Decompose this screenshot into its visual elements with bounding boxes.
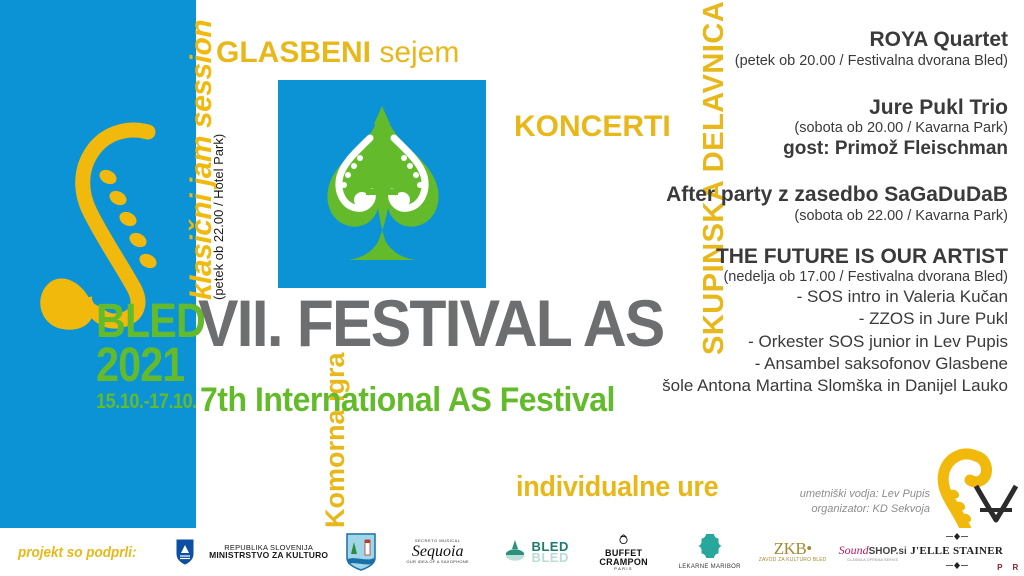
program-item-future-artist: THE FUTURE IS OUR ARTIST (nedelja ob 17.…	[588, 245, 1008, 397]
program-line: - Ansambel saksofonov Glasbene	[588, 353, 1008, 375]
sponsor-line2: BLED	[531, 551, 568, 565]
slovenia-coat-of-arms-icon	[176, 539, 194, 565]
program-list: ROYA Quartet (petek ob 20.00 / Festivaln…	[588, 28, 1008, 397]
sponsor-a: Sound	[839, 543, 869, 557]
saxophone-mark-icon	[918, 448, 1022, 534]
program-item-jure-pukl: Jure Pukl Trio (sobota ob 20.00 / Kavarn…	[588, 96, 1008, 161]
sponsor-logo-bled: BLED BLED	[488, 529, 584, 575]
program-line: - ZZOS in Jure Pukl	[588, 308, 1008, 330]
artistic-director: umetniški vodja: Lev Pupis	[795, 487, 930, 502]
program-sub: (petek ob 20.00 / Festivalna dvorana Ble…	[588, 52, 1008, 70]
ornament-icon	[942, 561, 972, 570]
sponsor-logo-lekarne-maribor: LEKARNE MARIBOR	[664, 529, 756, 575]
sponsor-tag: PARIS	[599, 567, 648, 571]
sponsor-line2: MINISTRSTVO ZA KULTURO	[209, 550, 328, 560]
jam-session-subtitle: (petek ob 22.00 / Hotel Park)	[212, 134, 225, 300]
sponsor-logo-sound-shop: SoundSHOP.si GLASBILA OPREMA SERVIS	[830, 529, 916, 575]
music-fair-bold: GLASBENI	[216, 36, 371, 69]
program-head: THE FUTURE IS OUR ARTIST	[588, 245, 1008, 269]
sponsor-main: Sequoia	[406, 544, 468, 561]
year-label: 2021	[96, 344, 205, 388]
spacer	[588, 225, 1008, 245]
chamber-music-label: Komorna igra	[322, 352, 349, 528]
sponsor-b: SHOP.si	[869, 546, 907, 557]
sponsor-bar: projekt so podprli: REPUBLIKA SLOVENIJA …	[0, 528, 1024, 576]
festival-logo	[278, 80, 486, 288]
festival-poster: klasični jam session (petek ob 22.00 / H…	[0, 0, 1024, 576]
sponsor-line1: J'ELLE STAINER	[910, 546, 1003, 558]
sponsor-logo-buffet-crampon: BUFFET CRAMPON PARIS	[584, 529, 664, 575]
sponsor-logo-sequoia: SECRETO MUSICAL Sequoia OUR IDEA OF A SA…	[388, 529, 488, 575]
sponsor-line1: P R O F I N	[997, 564, 1024, 572]
music-fair-heading: GLASBENI sejem	[216, 36, 459, 70]
sponsor-logo-ministrstvo-crest	[166, 529, 204, 575]
program-line: - SOS intro in Valeria Kučan	[588, 286, 1008, 308]
credits-block: umetniški vodja: Lev Pupis organizator: …	[795, 487, 930, 517]
music-fair-regular: sejem	[379, 36, 459, 69]
sponsor-tag: OUR IDEA OF A SAXOPHONE	[406, 560, 468, 564]
sponsor-tag: GLASBILA OPREMA SERVIS	[839, 559, 907, 563]
organizer: organizator: KD Sekvoja	[795, 502, 930, 517]
program-head: ROYA Quartet	[588, 28, 1008, 52]
individual-lessons-label: individualne ure	[516, 471, 718, 504]
sponsor-logo-profin: P R O F I N	[998, 529, 1024, 575]
program-line: - Orkester SOS junior in Lev Pupis	[588, 331, 1008, 353]
city-label: BLED	[96, 300, 205, 344]
program-sub: (sobota ob 22.00 / Kavarna Park)	[588, 207, 1008, 225]
sponsor-logo-zkb: ZKB• ZAVOD ZA KULTURO BLED	[756, 529, 830, 575]
spacer	[588, 161, 1008, 183]
sponsor-sub: ZAVOD ZA KULTURO BLED	[759, 558, 827, 564]
program-item-after-party: After party z zasedbo SaGaDuDaB (sobota …	[588, 183, 1008, 225]
pharmacy-cross-icon	[697, 533, 723, 559]
program-sub: (nedelja ob 17.00 / Festivalna dvorana B…	[588, 268, 1008, 286]
sponsor-line1: LEKARNE MARIBOR	[679, 564, 741, 570]
dates-label: 15.10.-17.10.	[96, 392, 205, 411]
sponsor-logo-jelle-stainer: J'ELLE STAINER	[916, 529, 998, 575]
bled-island-icon	[502, 537, 528, 567]
ace-saxophone-logo-icon	[278, 80, 486, 288]
bled-municipality-crest-icon	[345, 532, 377, 572]
spacer	[588, 70, 1008, 96]
ornament-icon	[942, 532, 972, 541]
program-head: Jure Pukl Trio	[588, 96, 1008, 120]
program-guest: gost: Primož Fleischman	[588, 137, 1008, 161]
sponsor-main: ZKB•	[759, 540, 827, 558]
program-sub: (sobota ob 20.00 / Kavarna Park)	[588, 119, 1008, 137]
supporters-label: projekt so podprli:	[18, 544, 137, 561]
program-head: After party z zasedbo SaGaDuDaB	[588, 183, 1008, 207]
page-subtitle: 7th International AS Festival	[200, 383, 615, 417]
sponsor-logo-obcina-bled	[334, 529, 388, 575]
program-line: šole Antona Martina Slomška in Danijel L…	[588, 375, 1008, 397]
crampon-emblem-icon	[618, 534, 629, 545]
sponsor-logo-ministrstvo-za-kulturo: REPUBLIKA SLOVENIJA MINISTRSTVO ZA KULTU…	[204, 529, 334, 575]
program-item-roya: ROYA Quartet (petek ob 20.00 / Festivaln…	[588, 28, 1008, 70]
